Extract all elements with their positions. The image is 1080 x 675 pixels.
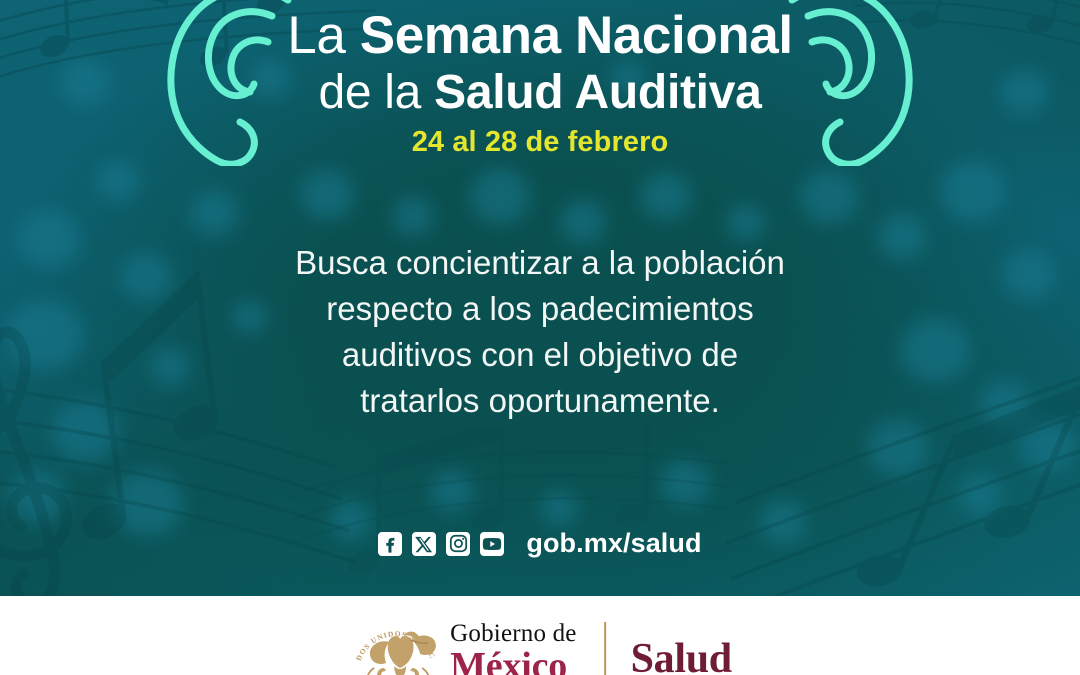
campaign-poster: La Semana Nacional de la Salud Auditiva … <box>0 0 1080 675</box>
mexico-coat-of-arms-icon: ESTADOS UNIDOS MEXICANOS <box>348 618 444 675</box>
footer-divider <box>605 622 607 675</box>
description-line-4: tratarlos oportunamente. <box>220 378 860 424</box>
youtube-icon[interactable] <box>480 532 504 556</box>
x-twitter-icon[interactable] <box>412 532 436 556</box>
page-title: La Semana Nacional de la Salud Auditiva … <box>0 6 1080 159</box>
campaign-description: Busca concientizar a la población respec… <box>220 240 860 424</box>
social-media-bar: gob.mx/salud <box>0 528 1080 559</box>
title-line-1: La Semana Nacional <box>0 6 1080 66</box>
instagram-icon[interactable] <box>446 532 470 556</box>
title-line-1-light: La <box>287 6 359 65</box>
campaign-dates: 24 al 28 de febrero <box>0 126 1080 159</box>
footer-bar: ESTADOS UNIDOS MEXICANOS <box>0 596 1080 675</box>
salud-wordmark: Salud <box>631 618 732 675</box>
description-line-1: Busca concientizar a la población <box>220 240 860 286</box>
poster-stage: La Semana Nacional de la Salud Auditiva … <box>0 0 1080 596</box>
title-line-2: de la Salud Auditiva <box>0 66 1080 120</box>
title-line-2-light: de la <box>318 66 434 119</box>
facebook-icon[interactable] <box>378 532 402 556</box>
gobierno-de-mexico-wordmark: Gobierno de México <box>450 618 576 675</box>
gobierno-line-2: México <box>450 647 576 675</box>
social-handle[interactable]: gob.mx/salud <box>526 528 701 559</box>
description-line-2: respecto a los padecimientos <box>220 286 860 332</box>
title-line-1-bold: Semana Nacional <box>360 6 793 65</box>
title-line-2-bold: Salud Auditiva <box>434 66 761 119</box>
footer-logos: ESTADOS UNIDOS MEXICANOS <box>348 618 732 675</box>
gobierno-line-1: Gobierno de <box>450 621 576 647</box>
description-line-3: auditivos con el objetivo de <box>220 332 860 378</box>
